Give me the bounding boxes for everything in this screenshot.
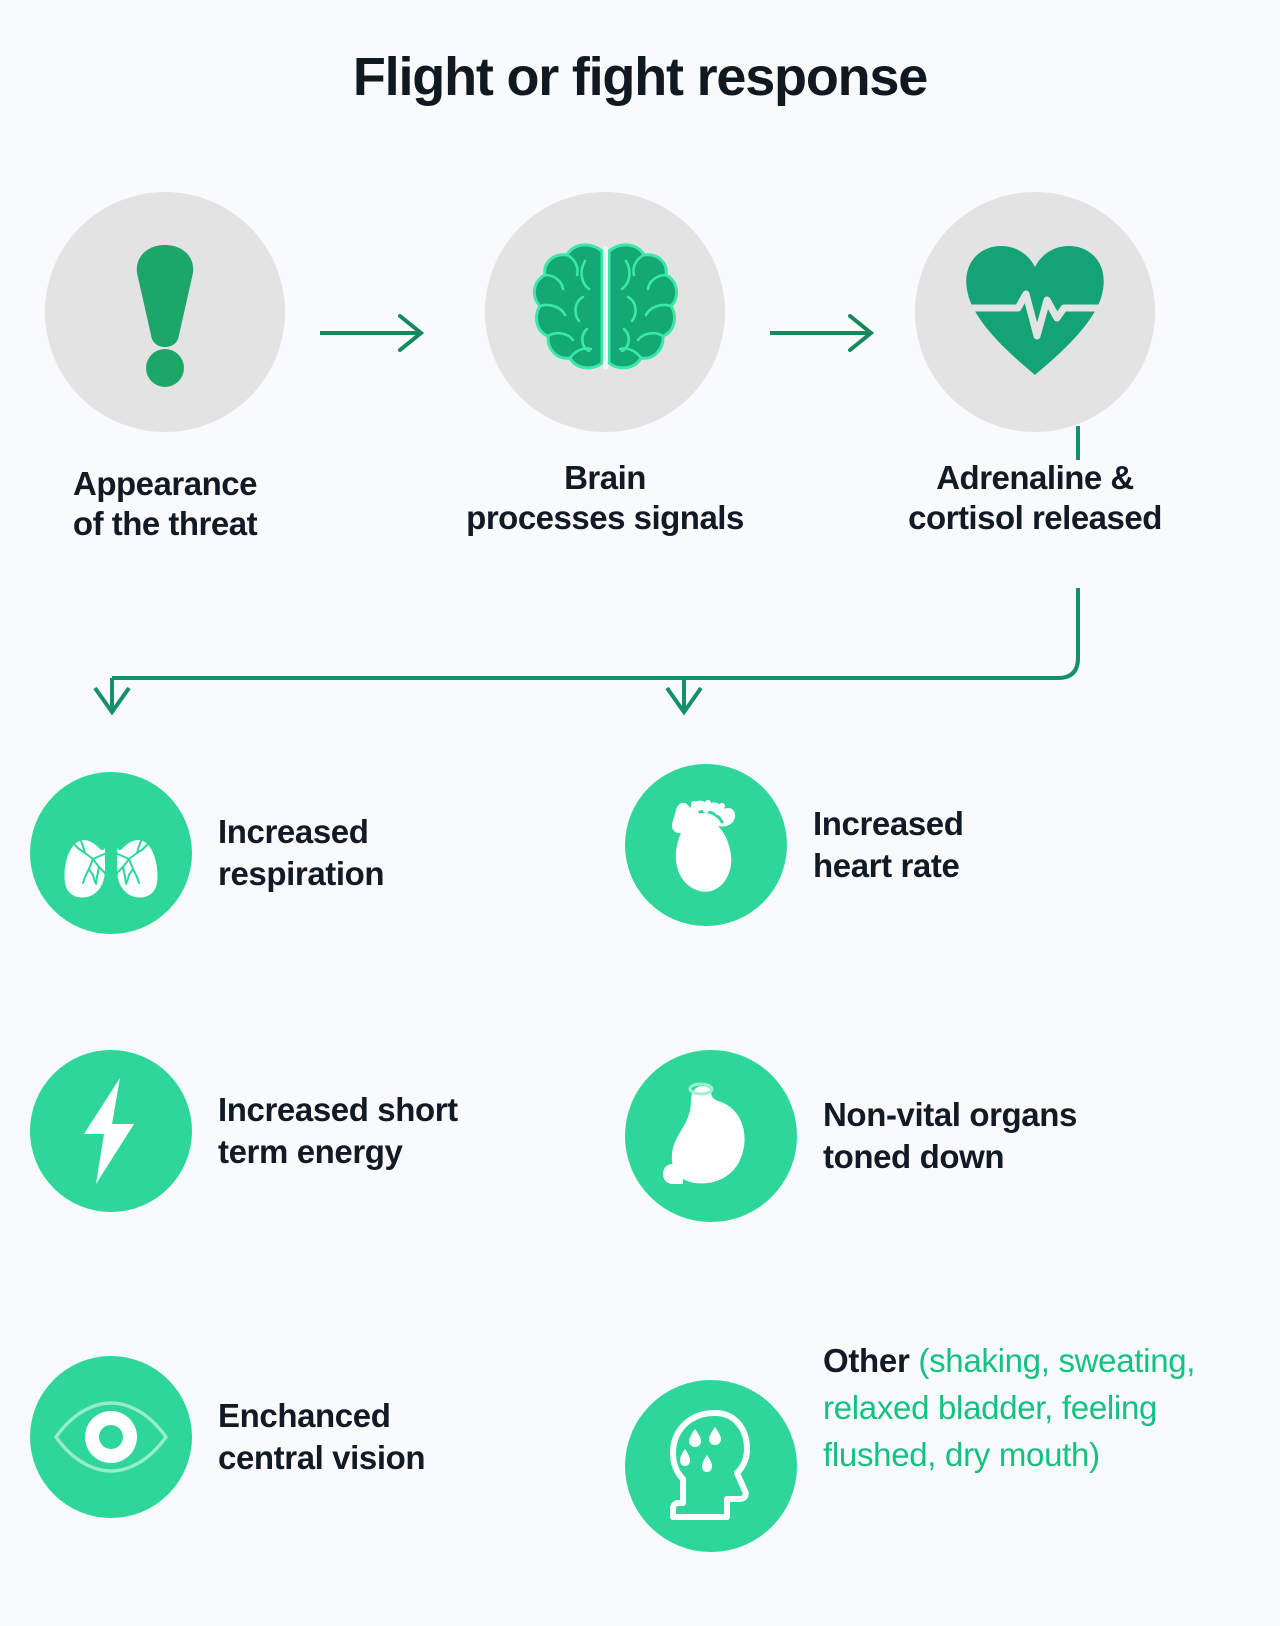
arrow-right-icon: [768, 310, 878, 356]
sweating-head-icon: [659, 1407, 763, 1525]
stage-appearance-of-threat: Appearance of the threat: [0, 192, 335, 545]
symptom-5-circle: [30, 1356, 192, 1518]
symptom-increased-heart-rate: Increased heart rate: [625, 764, 1245, 926]
symptom-4-circle: [625, 1050, 797, 1222]
symptom-6-label: Other (shaking, sweating, relaxed bladde…: [823, 1338, 1213, 1479]
symptom-4-label: Non-vital organs toned down: [823, 1094, 1077, 1178]
exclamation-mark-icon: [105, 237, 225, 387]
arrow-down-icon: [667, 688, 701, 712]
stage-3-circle: [915, 192, 1155, 432]
symptom-6-circle: [625, 1380, 797, 1552]
stage-3-label: Adrenaline & cortisol released: [865, 458, 1205, 539]
stage-2-label-line1: Brain: [435, 458, 775, 498]
symptom-1-circle: [30, 772, 192, 934]
stage-3-label-line2: cortisol released: [865, 498, 1205, 538]
symptom-non-vital-organs-toned-down: Non-vital organs toned down: [625, 1050, 1245, 1222]
stage-2-circle: [485, 192, 725, 432]
symptom-grid: Increased respiration Increased heart ra…: [0, 762, 1280, 1626]
heart-pulse-icon: [960, 242, 1110, 382]
stomach-icon: [659, 1080, 763, 1192]
symptom-increased-respiration: Increased respiration: [30, 772, 610, 934]
symptom-5-label: Enchanced central vision: [218, 1395, 425, 1479]
symptom-increased-short-term-energy: Increased short term energy: [30, 1050, 610, 1212]
page-title: Flight or fight response: [0, 48, 1280, 107]
brain-icon: [523, 237, 688, 387]
stage-row: Appearance of the threat: [0, 192, 1280, 572]
lungs-icon: [55, 803, 167, 903]
arrow-down-icon: [95, 688, 129, 712]
symptom-row-2: Increased short term energy Non-vital or…: [0, 1050, 1280, 1338]
arrow-right-icon: [318, 310, 428, 356]
lightning-bolt-icon: [74, 1076, 148, 1186]
stage-3-label-line1: Adrenaline &: [865, 458, 1205, 498]
symptom-2-circle: [625, 764, 787, 926]
stage-1-label-line1: Appearance: [0, 464, 335, 504]
eye-icon: [52, 1399, 170, 1475]
stage-1-label: Appearance of the threat: [0, 464, 335, 545]
symptom-1-label: Increased respiration: [218, 811, 384, 895]
symptom-row-1: Increased respiration Increased heart ra…: [0, 762, 1280, 1050]
symptom-6-label-bold: Other: [823, 1342, 910, 1379]
stage-1-label-line2: of the threat: [0, 504, 335, 544]
stage-2-label-line2: processes signals: [435, 498, 775, 538]
stage-2-label: Brain processes signals: [435, 458, 775, 539]
symptom-enhanced-central-vision: Enchanced central vision: [30, 1356, 610, 1518]
symptom-3-label: Increased short term energy: [218, 1089, 458, 1173]
stage-brain-processes-signals: Brain processes signals: [435, 192, 775, 539]
symptom-2-label: Increased heart rate: [813, 803, 964, 887]
symptom-other: Other (shaking, sweating, relaxed bladde…: [625, 1338, 1245, 1552]
stage-1-circle: [45, 192, 285, 432]
infographic-page: Flight or fight response Appearance of t…: [0, 0, 1280, 1615]
symptom-row-3: Enchanced central vision Ot: [0, 1338, 1280, 1626]
anatomical-heart-icon: [656, 790, 756, 900]
stage-adrenaline-cortisol-released: Adrenaline & cortisol released: [865, 192, 1205, 539]
symptom-3-circle: [30, 1050, 192, 1212]
